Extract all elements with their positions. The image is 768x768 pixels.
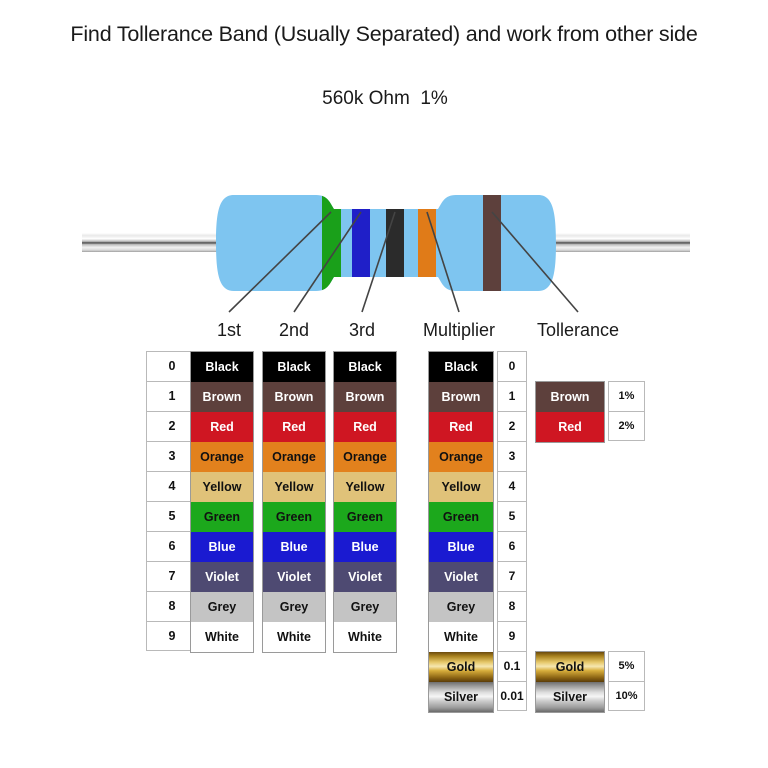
- tollerance-percent-column-top: 1%2%: [608, 381, 645, 441]
- color-swatch-green: Green: [263, 502, 325, 532]
- tollerance-percent-column-bottom: 5%10%: [608, 651, 645, 711]
- color-swatch-red: Red: [536, 412, 604, 442]
- color-swatch-orange: Orange: [334, 442, 396, 472]
- color-swatch-violet: Violet: [334, 562, 396, 592]
- color-code-tables: 0123456789 BlackBrownRedOrangeYellowGree…: [0, 0, 768, 768]
- second-digit-color-column: BlackBrownRedOrangeYellowGreenBlueViolet…: [262, 351, 326, 653]
- third-digit-color-column: BlackBrownRedOrangeYellowGreenBlueViolet…: [333, 351, 397, 653]
- table-cell: 9: [497, 621, 527, 651]
- color-swatch-white: White: [334, 622, 396, 652]
- color-swatch-black: Black: [334, 352, 396, 382]
- color-swatch-violet: Violet: [191, 562, 253, 592]
- color-swatch-red: Red: [334, 412, 396, 442]
- color-swatch-silver: Silver: [536, 682, 604, 712]
- color-swatch-violet: Violet: [429, 562, 493, 592]
- color-swatch-orange: Orange: [191, 442, 253, 472]
- table-cell: 1%: [608, 381, 645, 411]
- color-swatch-brown: Brown: [191, 382, 253, 412]
- color-swatch-grey: Grey: [429, 592, 493, 622]
- color-swatch-red: Red: [191, 412, 253, 442]
- multiplier-value-column: 01234567890.10.01: [497, 351, 527, 711]
- tollerance-color-column-top: BrownRed: [535, 381, 605, 443]
- table-cell: 0.1: [497, 651, 527, 681]
- table-cell: 0: [497, 351, 527, 381]
- color-swatch-orange: Orange: [263, 442, 325, 472]
- table-cell: 4: [497, 471, 527, 501]
- color-swatch-green: Green: [191, 502, 253, 532]
- table-cell: 0.01: [497, 681, 527, 711]
- table-cell: 1: [497, 381, 527, 411]
- color-swatch-violet: Violet: [263, 562, 325, 592]
- color-swatch-brown: Brown: [263, 382, 325, 412]
- color-swatch-white: White: [263, 622, 325, 652]
- color-swatch-blue: Blue: [263, 532, 325, 562]
- color-swatch-white: White: [191, 622, 253, 652]
- color-swatch-black: Black: [191, 352, 253, 382]
- first-digit-color-column: BlackBrownRedOrangeYellowGreenBlueViolet…: [190, 351, 254, 653]
- table-cell: 3: [497, 441, 527, 471]
- table-cell: 2%: [608, 411, 645, 441]
- color-swatch-yellow: Yellow: [191, 472, 253, 502]
- color-swatch-yellow: Yellow: [263, 472, 325, 502]
- color-swatch-blue: Blue: [334, 532, 396, 562]
- table-cell: 6: [497, 531, 527, 561]
- color-swatch-brown: Brown: [536, 382, 604, 412]
- tollerance-color-column-bottom: GoldSilver: [535, 651, 605, 713]
- table-cell: 5%: [608, 651, 645, 681]
- table-cell: 5: [497, 501, 527, 531]
- table-cell: 10%: [608, 681, 645, 711]
- color-swatch-silver: Silver: [429, 682, 493, 712]
- color-swatch-green: Green: [429, 502, 493, 532]
- table-cell: 2: [497, 411, 527, 441]
- color-swatch-yellow: Yellow: [429, 472, 493, 502]
- color-swatch-yellow: Yellow: [334, 472, 396, 502]
- color-swatch-grey: Grey: [334, 592, 396, 622]
- color-swatch-brown: Brown: [334, 382, 396, 412]
- color-swatch-orange: Orange: [429, 442, 493, 472]
- multiplier-color-column: BlackBrownRedOrangeYellowGreenBlueViolet…: [428, 351, 494, 713]
- color-swatch-gold: Gold: [429, 652, 493, 682]
- color-swatch-black: Black: [429, 352, 493, 382]
- color-swatch-green: Green: [334, 502, 396, 532]
- color-swatch-grey: Grey: [263, 592, 325, 622]
- table-cell: 7: [497, 561, 527, 591]
- color-swatch-red: Red: [429, 412, 493, 442]
- color-swatch-brown: Brown: [429, 382, 493, 412]
- color-swatch-gold: Gold: [536, 652, 604, 682]
- color-swatch-blue: Blue: [191, 532, 253, 562]
- table-cell: 8: [497, 591, 527, 621]
- color-swatch-red: Red: [263, 412, 325, 442]
- color-swatch-grey: Grey: [191, 592, 253, 622]
- color-swatch-white: White: [429, 622, 493, 652]
- color-swatch-blue: Blue: [429, 532, 493, 562]
- color-swatch-black: Black: [263, 352, 325, 382]
